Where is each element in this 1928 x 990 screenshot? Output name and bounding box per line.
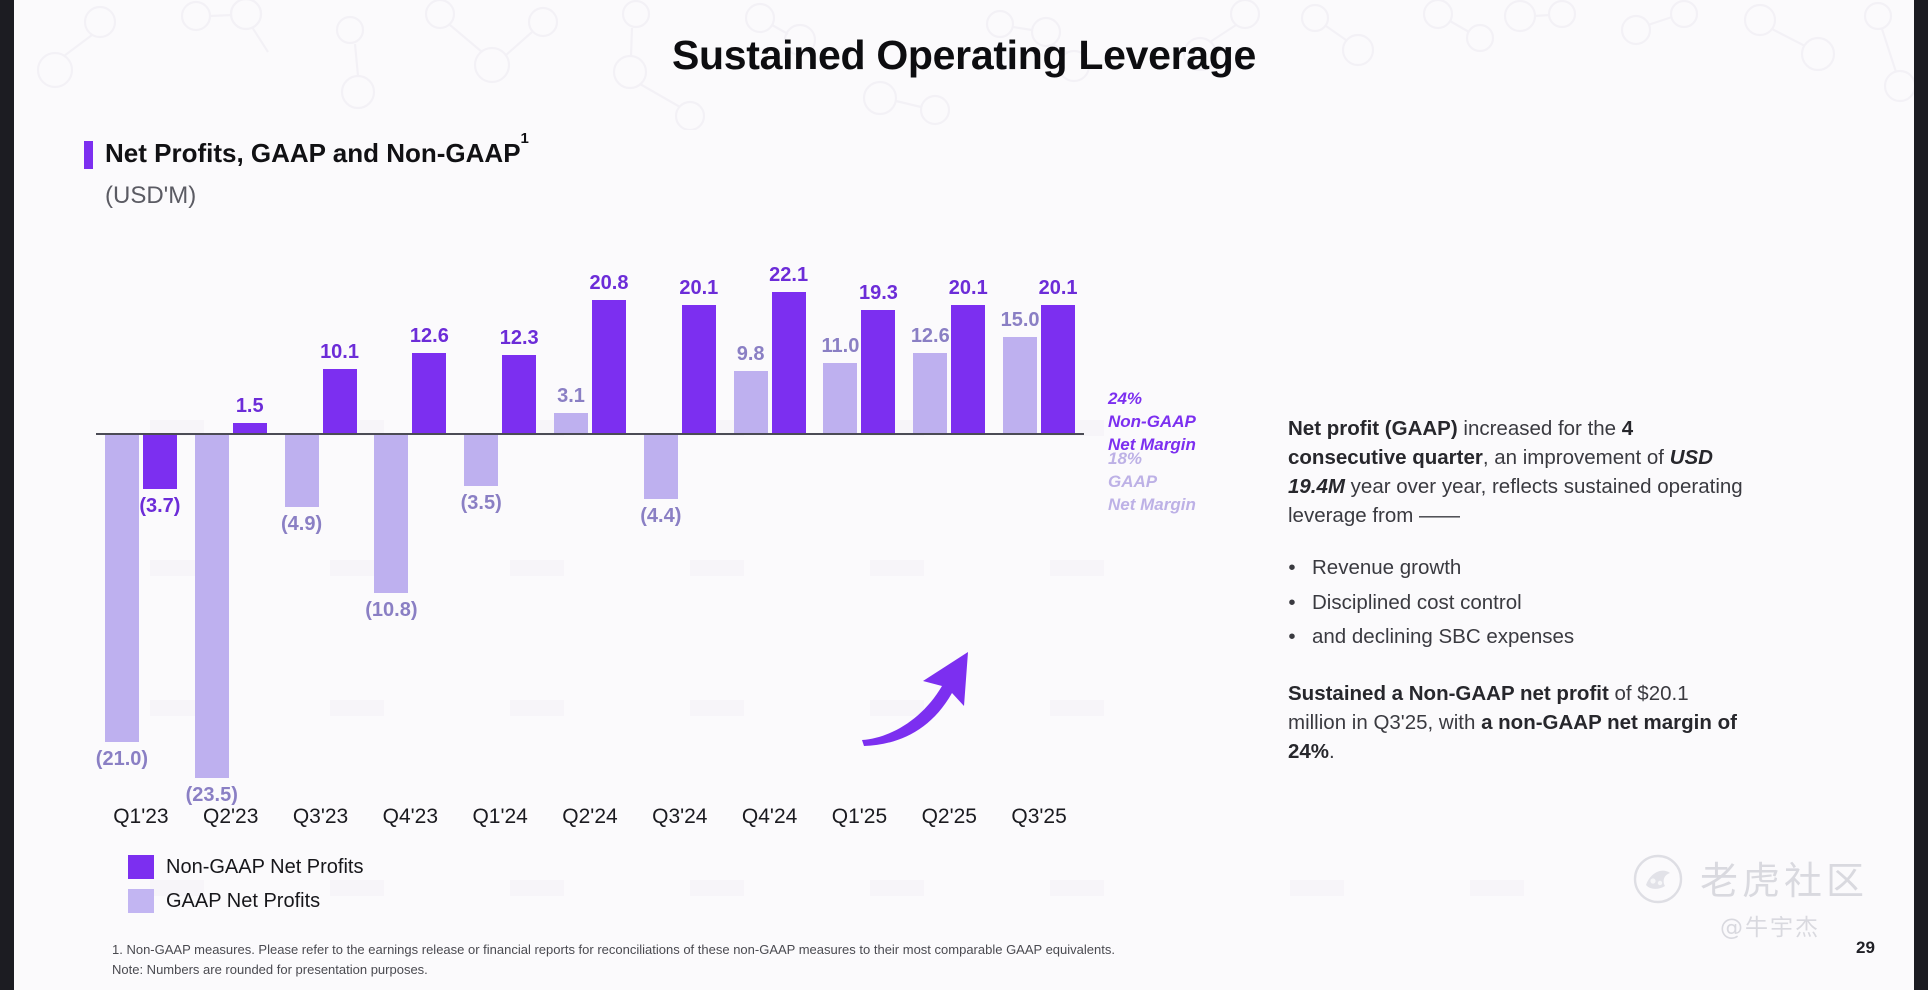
slide-left-border [0, 0, 14, 990]
commentary-p1-bold-1: Net profit (GAAP) [1288, 417, 1458, 440]
commentary-p2-text-2: . [1329, 740, 1335, 763]
chart-bar-group: 15.020.1 [994, 280, 1084, 800]
chart-value-label: (10.8) [346, 599, 436, 622]
page-title: Sustained Operating Leverage [0, 32, 1928, 79]
section-subtitle: (USD'M) [105, 182, 196, 210]
footnote-line-1: 1. Non-GAAP measures. Please refer to th… [112, 940, 1115, 960]
x-axis-label: Q3'24 [634, 805, 726, 829]
chart-bar-gaap[interactable] [464, 435, 498, 486]
chart-bar-gaap[interactable] [285, 435, 319, 507]
chart-legend: Non-GAAP Net Profits GAAP Net Profits [128, 855, 363, 923]
gaap-margin-line2: GAAP [1108, 471, 1196, 494]
chart-bar-group: (21.0)(3.7) [96, 280, 186, 800]
commentary-p1-text-2: , an improvement of [1483, 446, 1670, 469]
section-title: Net Profits, GAAP and Non-GAAP1 [105, 138, 529, 169]
watermark-brand: 老虎社区 [1700, 850, 1868, 905]
slide-right-border [1914, 0, 1928, 990]
x-axis-label: Q1'23 [95, 805, 187, 829]
bullet-label: and declining SBC expenses [1312, 625, 1574, 649]
annotation-gaap-net-margin: 18% GAAP Net Margin [1108, 448, 1196, 517]
legend-swatch-gaap-icon [128, 889, 154, 913]
commentary-paragraph-1: Net profit (GAAP) increased for the 4 co… [1288, 414, 1748, 530]
legend-label-gaap: GAAP Net Profits [166, 890, 320, 913]
footnote: 1. Non-GAAP measures. Please refer to th… [112, 940, 1115, 980]
bullet-dot-icon: • [1288, 591, 1296, 615]
chart-bar-nongaap[interactable] [233, 423, 267, 433]
chart-bar-nongaap[interactable] [412, 353, 446, 433]
chart-bar-gaap[interactable] [105, 435, 139, 742]
chart-value-label: (21.0) [77, 748, 167, 771]
chart-value-label: (4.9) [257, 513, 347, 536]
section-title-text: Net Profits, GAAP and Non-GAAP [105, 138, 521, 168]
chart-bar-gaap[interactable] [823, 363, 857, 433]
chart-bar-gaap[interactable] [374, 435, 408, 593]
x-axis-label: Q4'24 [724, 805, 816, 829]
legend-label-non-gaap: Non-GAAP Net Profits [166, 856, 363, 879]
legend-item-gaap[interactable]: GAAP Net Profits [128, 889, 363, 913]
commentary-paragraph-2: Sustained a Non-GAAP net profit of $20.1… [1288, 679, 1748, 766]
commentary-panel: Net profit (GAAP) increased for the 4 co… [1288, 414, 1748, 766]
gaap-margin-line3: Net Margin [1108, 494, 1196, 517]
gaap-margin-pct: 18% [1108, 448, 1196, 471]
x-axis-label: Q2'25 [903, 805, 995, 829]
chart-zero-baseline [96, 433, 1084, 435]
section-heading: Net Profits, GAAP and Non-GAAP1 [84, 138, 529, 169]
slide-canvas: Sustained Operating Leverage Net Profits… [0, 0, 1928, 990]
chart-bar-group: (4.9)10.1 [276, 280, 366, 800]
chart-x-axis: Q1'23Q2'23Q3'23Q4'23Q1'24Q2'24Q3'24Q4'24… [96, 805, 1096, 839]
upward-trend-arrow-icon [860, 648, 980, 748]
commentary-bullet-list: •Revenue growth •Disciplined cost contro… [1288, 556, 1748, 649]
annotation-non-gaap-net-margin: 24% Non-GAAP Net Margin [1108, 388, 1196, 457]
chart-bar-nongaap[interactable] [772, 292, 806, 433]
chart-bar-gaap[interactable] [913, 353, 947, 433]
x-axis-label: Q3'23 [275, 805, 367, 829]
page-number: 29 [1856, 938, 1875, 958]
x-axis-label: Q1'25 [813, 805, 905, 829]
commentary-p1-text-3: year over year, reflects sustained opera… [1288, 475, 1743, 527]
bullet-label: Disciplined cost control [1312, 591, 1522, 615]
chart-bar-group: 3.120.8 [545, 280, 635, 800]
accent-bar-icon [84, 141, 93, 169]
chart-bar-nongaap[interactable] [143, 435, 177, 489]
chart-bar-gaap[interactable] [1003, 337, 1037, 433]
bullet-item: •and declining SBC expenses [1288, 625, 1748, 649]
chart-bar-nongaap[interactable] [323, 369, 357, 433]
bullet-label: Revenue growth [1312, 556, 1461, 580]
chart-bar-nongaap[interactable] [592, 300, 626, 433]
commentary-p1-text-1: increased for the [1458, 417, 1622, 440]
x-axis-label: Q1'24 [454, 805, 546, 829]
chart-bar-gaap[interactable] [195, 435, 229, 778]
x-axis-label: Q2'24 [544, 805, 636, 829]
section-title-footnote-marker: 1 [521, 130, 529, 147]
chart-value-label: 20.1 [1013, 277, 1103, 300]
watermark-logo-icon [1632, 853, 1684, 905]
chart-bar-group: (10.8)12.6 [365, 280, 455, 800]
chart-bar-gaap[interactable] [554, 413, 588, 433]
non-gaap-margin-pct: 24% [1108, 388, 1196, 411]
footnote-line-2: Note: Numbers are rounded for presentati… [112, 960, 1115, 980]
commentary-p2-bold-1: Sustained a Non-GAAP net profit [1288, 682, 1609, 705]
chart-bar-nongaap[interactable] [1041, 305, 1075, 433]
chart-value-label: (23.5) [167, 784, 257, 807]
chart-bar-nongaap[interactable] [682, 305, 716, 433]
chart-bar-group: 9.822.1 [725, 280, 815, 800]
chart-value-label: (3.5) [436, 492, 526, 515]
x-axis-label: Q3'25 [993, 805, 1085, 829]
bullet-item: •Revenue growth [1288, 556, 1748, 580]
non-gaap-margin-line2: Non-GAAP [1108, 411, 1196, 434]
watermark-handle: @牛宇杰 [1720, 908, 1820, 942]
x-axis-label: Q2'23 [185, 805, 277, 829]
legend-swatch-non-gaap-icon [128, 855, 154, 879]
x-axis-label: Q4'23 [364, 805, 456, 829]
legend-item-non-gaap[interactable]: Non-GAAP Net Profits [128, 855, 363, 879]
bullet-dot-icon: • [1288, 625, 1296, 649]
chart-bar-group: (3.5)12.3 [455, 280, 545, 800]
chart-bar-gaap[interactable] [734, 371, 768, 433]
chart-bar-gaap[interactable] [644, 435, 678, 499]
chart-bar-group: (23.5)1.5 [186, 280, 276, 800]
bullet-item: •Disciplined cost control [1288, 591, 1748, 615]
chart-value-label: (4.4) [616, 505, 706, 528]
bullet-dot-icon: • [1288, 556, 1296, 580]
